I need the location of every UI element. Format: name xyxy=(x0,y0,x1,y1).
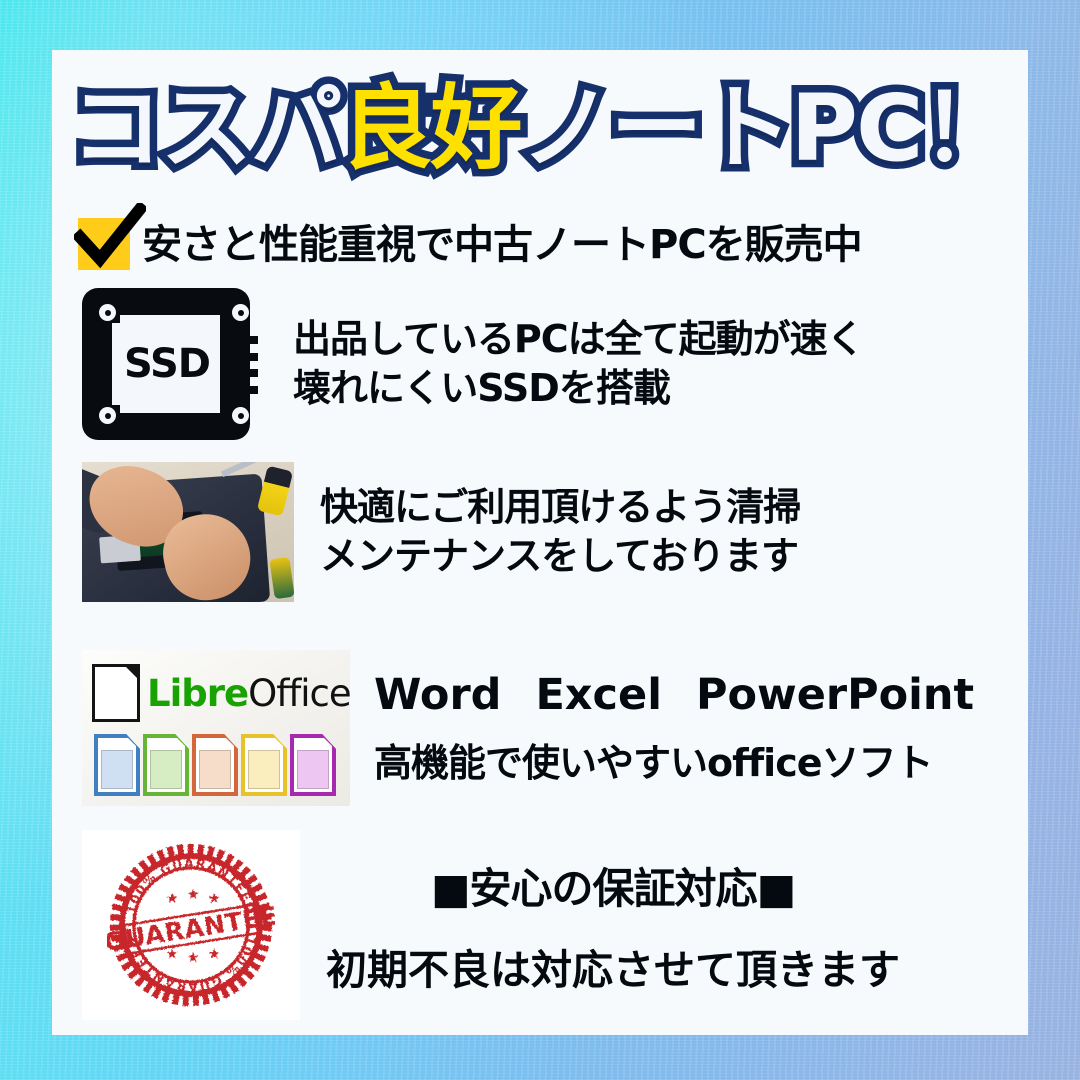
checkmark-glyph xyxy=(74,203,146,275)
svg-text:★: ★ xyxy=(208,891,221,907)
office-app-powerpoint: PowerPoint xyxy=(696,670,974,720)
promo-poster: コスパ良好ノートPC！ 安さと性能重視で中古ノートPCを販売中 SSD xyxy=(0,0,1080,1080)
page-title: コスパ良好ノートPC！ xyxy=(76,74,1006,184)
office-app-word: Word xyxy=(374,670,501,720)
laptop-repair-photo xyxy=(82,462,294,602)
ssd-text-line1: 出品しているPCは全て起動が速く xyxy=(293,315,864,364)
feature-ssd: SSD 出品しているPCは全て起動が速く 壊れにくいSSDを搭載 xyxy=(82,288,1022,440)
impress-icon xyxy=(192,734,238,796)
draw-icon xyxy=(241,734,287,796)
libreoffice-document-icon xyxy=(92,664,140,722)
maintenance-text-line1: 快適にご利用頂けるよう清掃 xyxy=(320,483,800,532)
office-app-excel: Excel xyxy=(535,670,662,720)
feature-office: LibreOffice WordExcelPowerPoint 高機能で使いやす… xyxy=(82,650,1022,806)
ssd-drive-icon: SSD xyxy=(82,288,267,440)
headline-part1: コスパ xyxy=(71,83,341,175)
feature-warranty: ★ 100% GUARANTEED ★ ★ 100% GUARANTEED ★ … xyxy=(82,830,1022,1020)
office-subtitle: 高機能で使いやすいofficeソフト xyxy=(374,732,974,787)
ssd-icon-label: SSD xyxy=(124,341,210,387)
svg-text:★: ★ xyxy=(187,887,200,903)
headline-highlight: 良好 xyxy=(341,83,521,175)
office-app-names: WordExcelPowerPoint xyxy=(374,670,974,720)
guarantee-stamp-icon: ★ 100% GUARANTEED ★ ★ 100% GUARANTEED ★ … xyxy=(107,841,275,1009)
svg-text:★: ★ xyxy=(166,947,179,963)
svg-text:★: ★ xyxy=(166,891,179,907)
libreoffice-name-libre: Libre xyxy=(147,672,248,715)
check-square-icon xyxy=(74,211,136,271)
svg-text:★: ★ xyxy=(208,947,221,963)
feature-maintenance: 快適にご利用頂けるよう清掃 メンテナンスをしております xyxy=(82,462,1022,602)
tagline-row: 安さと性能重視で中古ノートPCを販売中 xyxy=(74,205,1014,277)
maintenance-text-line2: メンテナンスをしております xyxy=(320,532,800,581)
ssd-text-line2: 壊れにくいSSDを搭載 xyxy=(293,364,864,413)
content-card: コスパ良好ノートPC！ 安さと性能重視で中古ノートPCを販売中 SSD xyxy=(52,50,1028,1035)
base-icon xyxy=(290,734,336,796)
libreoffice-name-office: Office xyxy=(248,672,351,715)
svg-text:★: ★ xyxy=(187,950,200,966)
calc-icon xyxy=(143,734,189,796)
headline-part2: ノートPC！ xyxy=(521,83,1012,175)
tagline-text: 安さと性能重視で中古ノートPCを販売中 xyxy=(142,212,862,270)
writer-icon xyxy=(94,734,140,796)
libreoffice-logo: LibreOffice xyxy=(82,650,350,806)
libreoffice-app-icons xyxy=(90,734,342,796)
warranty-heading: ■安心の保証対応■ xyxy=(326,855,900,916)
warranty-subtitle: 初期不良は対応させて頂きます xyxy=(326,936,900,996)
guarantee-stamp-box: ★ 100% GUARANTEED ★ ★ 100% GUARANTEED ★ … xyxy=(82,830,300,1020)
